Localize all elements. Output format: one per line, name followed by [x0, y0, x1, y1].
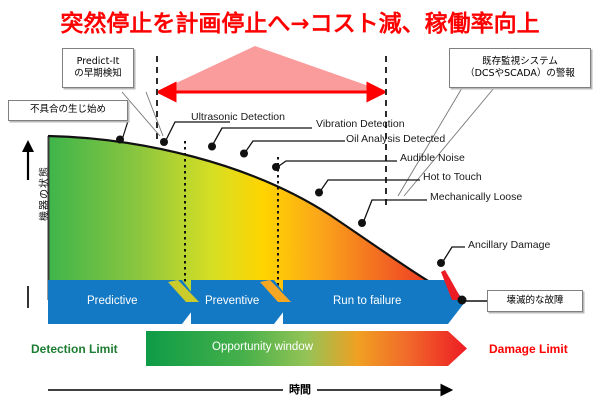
curve-dot-hot — [358, 219, 366, 227]
y-axis-label: 機器の状態 — [36, 159, 51, 229]
curve-dot-audible — [315, 189, 323, 197]
y-axis-arrowhead — [22, 140, 34, 152]
curve-dot-failure — [458, 296, 467, 305]
callout-existing-monitoring-line2: （DCSやSCADA）の警報 — [465, 68, 575, 81]
label-ancillary-damage: Ancillary Damage — [468, 239, 550, 251]
curve-dot-predict-it — [160, 138, 168, 146]
label-audible-noise: Audible Noise — [400, 152, 465, 164]
callout-catastrophic-failure-text: 壊滅的な故障 — [506, 295, 563, 308]
label-mechanically-loose: Mechanically Loose — [430, 191, 522, 203]
leader-loose — [363, 200, 427, 223]
x-axis-label: 時間 — [0, 381, 600, 397]
label-oil-analysis-detected: Oil Analysis Detected — [346, 133, 445, 145]
leader-hot — [319, 180, 420, 193]
label-ultrasonic-detection: Ultrasonic Detection — [191, 111, 285, 123]
damage-limit-label: Damage Limit — [489, 342, 568, 356]
leader-ancillary — [442, 247, 465, 263]
leader-oil — [244, 141, 345, 154]
callout-existing-monitoring: 既存監視システム （DCSやSCADA）の警報 — [449, 48, 591, 88]
improvement-triangle — [157, 46, 386, 92]
detection-limit-label: Detection Limit — [31, 342, 118, 356]
label-vibration-detection: Vibration Detection — [316, 118, 405, 130]
callout-fault-onset: 不具合の生じ始め — [8, 100, 128, 121]
leader-vibration — [212, 128, 312, 146]
curve-dot-vibration — [240, 150, 248, 158]
leader-audible — [276, 161, 397, 168]
callout-predict-it-line2: の早期検知 — [74, 68, 122, 81]
callout-predict-it-line1: Predict-It — [74, 56, 122, 69]
curve-dot-ultrasonic — [208, 143, 216, 151]
band-label-predictive: Predictive — [87, 295, 138, 307]
band-label-run-to-failure: Run to failure — [333, 295, 401, 307]
opportunity-window-label: Opportunity window — [212, 341, 313, 353]
callout-catastrophic-failure: 壊滅的な故障 — [487, 290, 583, 312]
x-axis-label-text: 時間 — [283, 383, 317, 396]
callout-existing-monitoring-line1: 既存監視システム — [465, 56, 575, 69]
callout-fault-onset-text: 不具合の生じ始め — [30, 104, 106, 117]
pf-curve-diagram: 突然停止を計画停止へ→コスト減、稼働率向上 — [0, 0, 600, 407]
band-label-preventive: Preventive — [205, 295, 259, 307]
curve-dot-oil — [272, 163, 280, 171]
curve-dot-ancillary — [437, 259, 445, 267]
callout-predict-it: Predict-It の早期検知 — [62, 48, 134, 88]
label-hot-to-touch: Hot to Touch — [423, 171, 482, 183]
curve-dot-fault-onset — [116, 136, 124, 144]
